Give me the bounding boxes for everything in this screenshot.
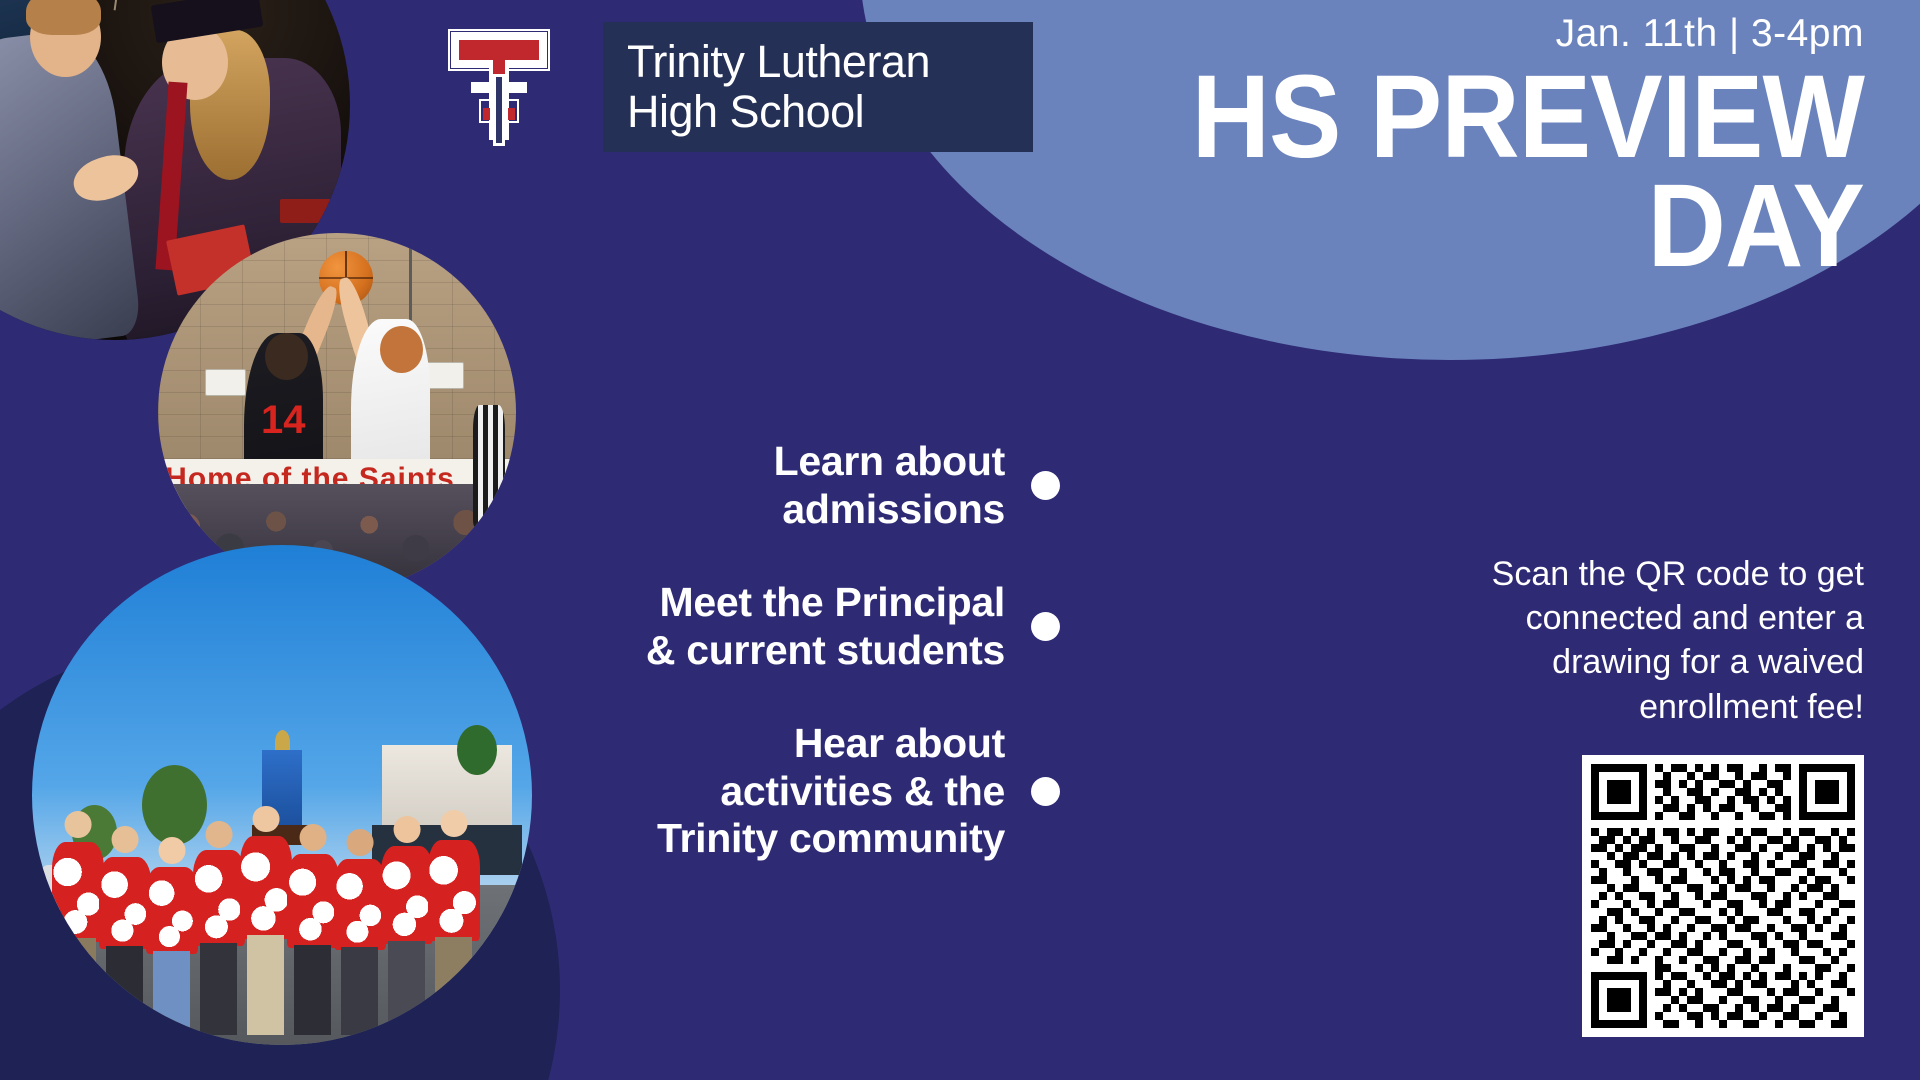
bullet-dot-icon — [1031, 777, 1060, 806]
qr-instructions: Scan the QR code to get connected and en… — [1444, 552, 1864, 729]
trinity-t-cross-logo — [447, 22, 551, 150]
flyer-canvas: Home of the Saints 14 — [0, 0, 1920, 1080]
qr-code[interactable] — [1582, 755, 1864, 1037]
team-trophy-photo — [32, 545, 532, 1045]
highlight-text: Hear about activities & the Trinity comm… — [640, 720, 1005, 863]
list-item: Hear about activities & the Trinity comm… — [640, 720, 1060, 863]
event-header: Jan. 11th | 3-4pm HS PREVIEW DAY — [904, 12, 1864, 282]
event-date-time: Jan. 11th | 3-4pm — [904, 12, 1864, 56]
jersey-number: 14 — [255, 398, 312, 443]
event-title-line2: DAY — [981, 170, 1864, 282]
event-title-line1: HS PREVIEW — [981, 64, 1864, 170]
bullet-dot-icon — [1031, 471, 1060, 500]
bullet-dot-icon — [1031, 612, 1060, 641]
qr-section: Scan the QR code to get connected and en… — [1444, 552, 1864, 1037]
basketball-game-photo: Home of the Saints 14 — [158, 233, 516, 591]
highlight-text: Learn about admissions — [640, 438, 1005, 533]
list-item: Meet the Principal & current students — [640, 579, 1060, 674]
event-highlights-list: Learn about admissions Meet the Principa… — [640, 438, 1060, 863]
highlight-text: Meet the Principal & current students — [640, 579, 1005, 674]
list-item: Learn about admissions — [640, 438, 1060, 533]
